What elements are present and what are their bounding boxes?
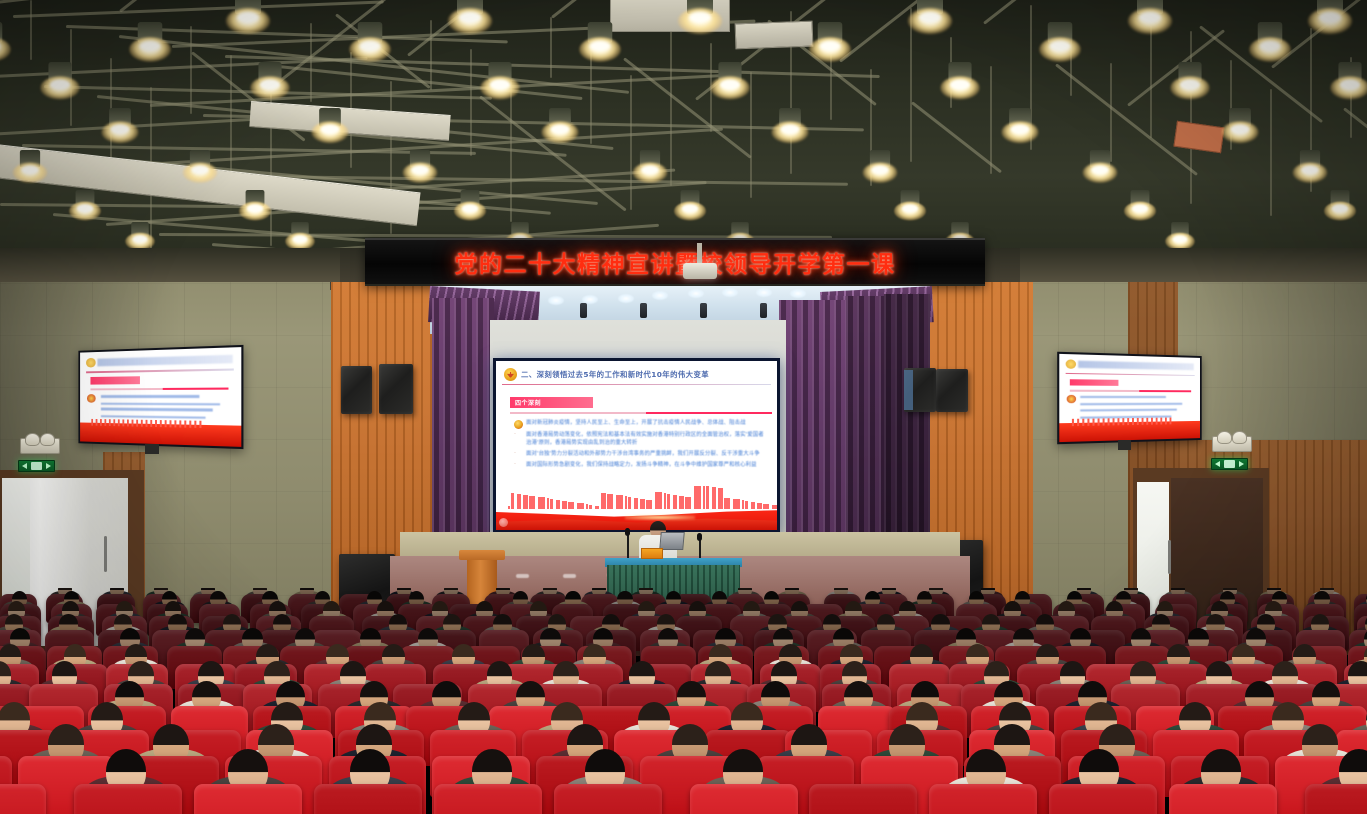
- auditorium-seat: [194, 784, 302, 814]
- skyline-building: [529, 496, 535, 509]
- auditorium-seat: [809, 784, 917, 814]
- skyline-building: [706, 486, 709, 509]
- skyline-building: [757, 503, 762, 509]
- skyline-building: [724, 498, 730, 509]
- microphone-stand-left: [627, 533, 629, 561]
- skyline-building: [694, 486, 701, 509]
- skyline-building: [655, 492, 662, 509]
- lamp-hotspot: [1011, 125, 1029, 134]
- stage-spotlight: [618, 294, 634, 303]
- wall-speaker-right-2: [936, 369, 968, 412]
- left-wall-monitor: [78, 345, 243, 449]
- lamp-glow: [0, 37, 11, 62]
- truss-post: [510, 78, 512, 222]
- slide-title-row: 二、深刻领悟过去5年的工作和新时代10年的伟大变革: [504, 367, 771, 382]
- left-monitor-emblem-icon: [86, 357, 96, 367]
- lamp-hotspot: [111, 125, 129, 134]
- truss-post: [990, 66, 992, 174]
- auditorium-seat: [929, 784, 1037, 814]
- right-monitor-title: [1078, 361, 1194, 371]
- slide-bullet-dash-icon: ·: [514, 450, 523, 458]
- lamp-hotspot: [1173, 235, 1188, 242]
- skyline-building: [742, 500, 744, 509]
- exit-person-icon-2: [1224, 460, 1235, 468]
- right-monitor-line-3: [1081, 409, 1177, 412]
- truss-post: [1110, 63, 1112, 162]
- skyline-building: [667, 494, 670, 509]
- slide-bullet-row: 面对新冠肺炎疫情，坚持人民至上、生命至上，开展了抗击疫情人民战争、总体战、阻击战: [514, 419, 767, 429]
- truss-post: [910, 8, 912, 162]
- lamp-hotspot: [1139, 12, 1161, 23]
- lamp-hotspot: [919, 12, 941, 23]
- skyline-building: [523, 495, 528, 509]
- lamp-hotspot: [321, 125, 339, 134]
- exit-person-icon: [31, 462, 42, 470]
- soffit-right: [1020, 248, 1367, 282]
- lamp-hotspot: [293, 235, 308, 242]
- skyline-building: [607, 494, 613, 509]
- presenter-laptop: [659, 532, 685, 550]
- lamp-hotspot: [360, 41, 381, 51]
- auditorium-photo: 党的二十大精神宣讲暨校领导开学第一课 二、深刻领悟过去5年的工作和新时代10年的…: [0, 0, 1367, 814]
- stage-light-fixture: [580, 303, 587, 318]
- wall-speaker-right-panel: [904, 370, 913, 410]
- lamp-hotspot: [77, 205, 93, 213]
- ceiling: [0, 0, 1367, 252]
- skyline-building: [646, 500, 652, 509]
- lamp-hotspot: [140, 41, 161, 51]
- right-monitor-mount: [1118, 440, 1131, 450]
- exit-arrow-left-icon-2: [1215, 461, 1220, 467]
- skyline-building: [517, 494, 521, 509]
- lamp-hotspot: [462, 205, 478, 213]
- slide-bullet-dash-icon: ·: [514, 431, 523, 448]
- auditorium-seat: [1305, 784, 1367, 814]
- truss-post: [230, 55, 232, 180]
- slide-skyline-graphic: [496, 486, 777, 530]
- ceiling-ac-unit-2: [735, 21, 814, 50]
- skyline-building: [547, 498, 549, 509]
- skyline-building: [718, 488, 723, 509]
- lamp-hotspot: [820, 41, 841, 51]
- skyline-building: [625, 496, 627, 509]
- skyline-building: [556, 500, 560, 509]
- left-exit-sign: [18, 460, 55, 472]
- truss-diagonal: [1343, 107, 1367, 190]
- skyline-building: [550, 499, 553, 509]
- right-monitor-slide: [1059, 354, 1200, 442]
- truss-post: [630, 75, 632, 210]
- stage-light-fixture: [760, 303, 767, 318]
- auditorium-seat: [690, 784, 798, 814]
- stage-floor-light-1: [516, 574, 529, 578]
- right-monitor-tag: [1070, 379, 1119, 386]
- left-monitor-red-footer: [80, 423, 241, 447]
- left-monitor-bullet-dot: [87, 394, 96, 402]
- soffit-left: [0, 248, 340, 282]
- skyline-building: [595, 506, 599, 509]
- slide-bullet-dash-icon: ·: [514, 461, 523, 469]
- lamp-hotspot: [50, 80, 70, 90]
- right-monitor-tagline: [1070, 389, 1191, 392]
- left-monitor-tag: [90, 377, 140, 385]
- slide-bullet-row: ·面对香港局势动荡变化，依照宪法和基本法有效实施对香港特别行政区的全面管治权，落…: [514, 431, 767, 448]
- slide-title: 二、深刻领悟过去5年的工作和新时代10年的伟大变革: [521, 369, 709, 380]
- left-door-handle[interactable]: [104, 536, 107, 572]
- audience: [0, 588, 1367, 814]
- skyline-building: [640, 499, 645, 509]
- slide-bullet-text: 面对国际形势急剧变化，我们保持战略定力，发扬斗争精神，在斗争中维护国家尊严和核心…: [526, 461, 757, 469]
- truss-post: [670, 14, 672, 186]
- slide-bullet-row: ·面对国际形势急剧变化，我们保持战略定力，发扬斗争精神，在斗争中维护国家尊严和核…: [514, 461, 767, 469]
- lamp-hotspot: [247, 205, 263, 213]
- stage-spotlight: [722, 288, 738, 297]
- skyline-building: [562, 501, 567, 509]
- skyline-building: [679, 496, 684, 509]
- led-banner-text: 党的二十大精神宣讲暨校领导开学第一课: [455, 245, 896, 279]
- ceiling-red-box: [1173, 121, 1224, 153]
- skyline-building: [745, 501, 748, 509]
- stage-spotlight: [652, 291, 668, 300]
- slide-wave-glow: [625, 515, 695, 520]
- slide-title-rule: [502, 384, 771, 385]
- skyline-building: [616, 495, 623, 509]
- truss-diagonal: [983, 0, 1100, 25]
- skyline-building: [511, 493, 514, 509]
- ceiling-projector: [683, 263, 717, 279]
- right-monitor-line-2: [1081, 403, 1182, 406]
- stage-spotlight: [548, 296, 564, 305]
- skyline-building: [577, 503, 584, 509]
- auditorium-seat: [1169, 784, 1277, 814]
- lamp-hotspot: [590, 41, 611, 51]
- skyline-building: [601, 493, 606, 509]
- auditorium-seat: [434, 784, 542, 814]
- party-emblem-icon: [504, 368, 517, 381]
- lamp-hotspot: [1301, 166, 1318, 175]
- right-door-handle[interactable]: [1168, 540, 1171, 574]
- auditorium-seat: [1049, 784, 1157, 814]
- stage-spotlight: [790, 289, 806, 298]
- skyline-building: [634, 498, 638, 509]
- lamp-hotspot: [950, 80, 970, 90]
- stage-light-fixture: [700, 303, 707, 318]
- right-monitor-red-footer: [1059, 421, 1200, 442]
- skyline-building: [703, 486, 705, 509]
- auditorium-seat: [554, 784, 662, 814]
- skyline-building: [664, 493, 666, 509]
- skyline-building: [673, 495, 677, 509]
- lamp-hotspot: [1132, 205, 1148, 213]
- left-monitor-line-2: [100, 402, 219, 405]
- lamp-hotspot: [21, 166, 38, 175]
- skyline-building: [772, 505, 777, 509]
- presenter-nameplate: [641, 548, 663, 559]
- skyline-building: [508, 506, 510, 509]
- slide: 二、深刻领悟过去5年的工作和新时代10年的伟大变革 四个深刻 面对新冠肺炎疫情，…: [496, 361, 777, 530]
- skyline-building: [712, 487, 716, 509]
- truss-post: [30, 0, 32, 60]
- slide-bullet-text: 面对'台独'势力分裂活动和外部势力干涉台湾事务的严重挑衅，我们开展反分裂、反干涉…: [526, 450, 760, 458]
- skyline-building: [538, 497, 545, 509]
- truss-diagonal: [839, 0, 975, 63]
- skyline-building: [685, 497, 691, 509]
- lamp-hotspot: [902, 205, 918, 213]
- lamp-hotspot: [1340, 80, 1360, 90]
- skyline-building: [568, 502, 574, 509]
- lamp-hotspot: [689, 12, 711, 23]
- microphone-left: [625, 528, 630, 536]
- truss-diagonal: [911, 101, 1002, 173]
- lamp-hotspot: [133, 235, 148, 242]
- exit-arrow-right-icon: [46, 463, 51, 469]
- right-monitor-line-1: [1081, 396, 1166, 398]
- stage-spotlight: [756, 288, 772, 297]
- slide-bullet-text: 面对香港局势动荡变化，依照宪法和基本法有效实施对香港特别行政区的全面管治权，落实…: [526, 431, 767, 448]
- slide-corner-logo: [499, 518, 508, 527]
- truss-post: [550, 17, 552, 78]
- left-monitor-line-4: [100, 415, 205, 419]
- projector-mount: [697, 243, 702, 265]
- lamp-hotspot: [551, 125, 569, 134]
- skyline-building: [628, 497, 631, 509]
- slide-section-tag-label: 四个深刻: [515, 398, 541, 407]
- right-wall-monitor: [1057, 352, 1202, 445]
- slide-bullet-list: 面对新冠肺炎疫情，坚持人民至上、生命至上，开展了抗击疫情人民战争、总体战、阻击战…: [514, 419, 767, 472]
- lamp-hotspot: [641, 166, 658, 175]
- left-emergency-light: [20, 438, 60, 454]
- stage-floor-light-2: [563, 574, 576, 578]
- truss-post: [750, 72, 752, 198]
- auditorium-seat: [0, 784, 46, 814]
- lamp-hotspot: [1231, 125, 1249, 134]
- truss-post: [310, 23, 312, 102]
- stage-spotlight: [688, 289, 704, 298]
- wall-speaker-left-1: [341, 366, 372, 414]
- left-monitor-line-3: [100, 408, 212, 411]
- right-monitor-bullet-dot: [1067, 395, 1076, 403]
- left-monitor-line-1: [100, 395, 199, 398]
- auditorium-seat: [74, 784, 182, 814]
- truss-post: [470, 49, 472, 156]
- exit-arrow-left-icon: [22, 463, 27, 469]
- stage-light-fixture: [640, 303, 647, 318]
- lamp-hotspot: [459, 12, 481, 23]
- slide-bullet-text: 面对新冠肺炎疫情，坚持人民至上、生命至上，开展了抗击疫情人民战争、总体战、阻击战: [526, 419, 746, 429]
- projection-screen: 二、深刻领悟过去5年的工作和新时代10年的伟大变革 四个深刻 面对新冠肺炎疫情，…: [493, 358, 780, 533]
- lamp-hotspot: [1332, 205, 1348, 213]
- slide-bullet-row: ·面对'台独'势力分裂活动和外部势力干涉台湾事务的严重挑衅，我们开展反分裂、反干…: [514, 450, 767, 458]
- truss-post: [1270, 89, 1272, 216]
- left-monitor-slide: [80, 347, 241, 447]
- truss-post: [190, 26, 192, 114]
- left-monitor-tagline: [90, 387, 229, 390]
- lamp-hotspot: [191, 166, 208, 175]
- right-emergency-light: [1212, 436, 1252, 452]
- lamp-hotspot: [871, 166, 888, 175]
- left-monitor-rule: [86, 368, 234, 373]
- lamp-hotspot: [682, 205, 698, 213]
- lamp-hotspot: [720, 80, 740, 90]
- left-monitor-mount: [145, 444, 159, 454]
- led-banner: 党的二十大精神宣讲暨校领导开学第一课: [365, 238, 985, 286]
- slide-section-tag: 四个深刻: [510, 397, 593, 408]
- lamp-hotspot: [490, 80, 510, 90]
- lamp-hotspot: [781, 125, 799, 134]
- right-exit-sign: [1211, 458, 1248, 470]
- lamp-hotspot: [1180, 80, 1200, 90]
- skyline-building: [763, 504, 769, 509]
- exit-arrow-right-icon-2: [1239, 461, 1244, 467]
- right-monitor-emblem-icon: [1065, 359, 1076, 369]
- podium-top: [459, 550, 505, 560]
- slide-bullet-emblem-icon: [514, 420, 523, 429]
- skyline-building: [589, 505, 592, 509]
- lamp-hotspot: [260, 80, 280, 90]
- lamp-hotspot: [237, 12, 259, 23]
- truss-beam: [13, 1, 384, 19]
- lamp-hotspot: [1091, 166, 1108, 175]
- lamp-hotspot: [1260, 41, 1281, 51]
- slide-tag-underline: [510, 412, 772, 414]
- microphone-right: [697, 533, 702, 541]
- truss-post: [430, 20, 432, 90]
- lamp-hotspot: [1050, 41, 1071, 51]
- lamp-hotspot: [411, 166, 428, 175]
- wall-speaker-left-2: [379, 364, 413, 414]
- skyline-building: [586, 504, 588, 509]
- left-monitor-title: [98, 354, 233, 366]
- skyline-building: [733, 499, 740, 509]
- lamp-hotspot: [1319, 12, 1341, 23]
- right-monitor-rule: [1065, 373, 1194, 377]
- auditorium-seat: [314, 784, 422, 814]
- skyline-building: [751, 502, 755, 509]
